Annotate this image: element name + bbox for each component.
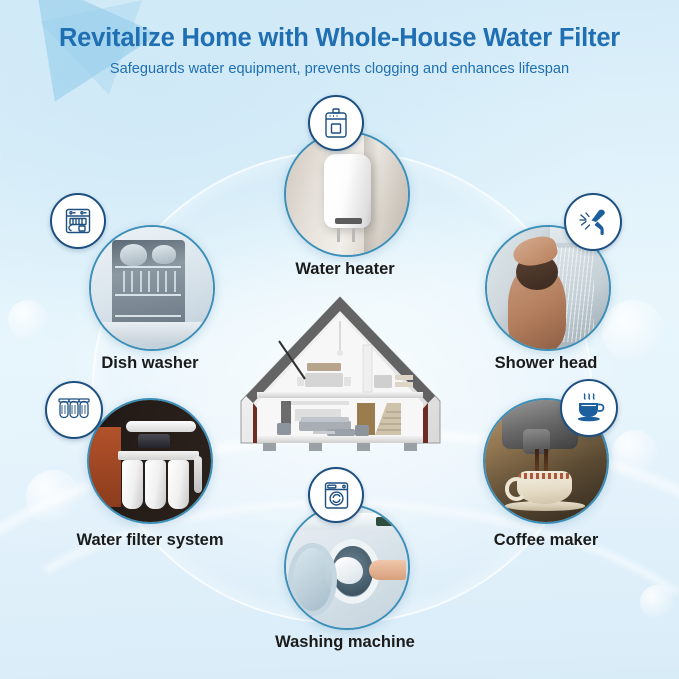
washing-machine-photo[interactable] xyxy=(284,504,410,630)
node-coffee-maker[interactable]: Coffee maker xyxy=(466,398,626,558)
dish-washer-photo[interactable] xyxy=(89,225,215,351)
washing-machine-icon[interactable] xyxy=(308,467,364,523)
water-heater-icon[interactable] xyxy=(308,95,364,151)
node-label-water-heater: Water heater xyxy=(295,260,394,279)
node-label-shower-head: Shower head xyxy=(495,354,598,373)
infographic-canvas: Revitalize Home with Whole-House Water F… xyxy=(0,0,679,679)
node-water-filter-system[interactable]: Water filter system xyxy=(70,398,230,558)
water-filter-system-photo[interactable] xyxy=(87,398,213,524)
page-subtitle: Safeguards water equipment, prevents clo… xyxy=(0,61,679,77)
bokeh-circle xyxy=(640,585,674,619)
node-label-water-filter-system: Water filter system xyxy=(76,531,223,550)
coffee-cup-icon[interactable] xyxy=(560,379,618,437)
filter-cartridges-icon[interactable] xyxy=(45,381,103,439)
water-heater-photo[interactable] xyxy=(284,131,410,257)
dishwasher-icon[interactable] xyxy=(50,193,106,249)
node-label-washing-machine: Washing machine xyxy=(275,633,415,652)
header: Revitalize Home with Whole-House Water F… xyxy=(0,24,679,77)
node-shower-head[interactable]: Shower head xyxy=(468,225,624,385)
node-dish-washer[interactable]: Dish washer xyxy=(72,225,228,385)
node-water-heater[interactable]: Water heater xyxy=(267,131,423,291)
node-label-dish-washer: Dish washer xyxy=(101,354,198,373)
page-title: Revitalize Home with Whole-House Water F… xyxy=(0,24,679,52)
bokeh-circle xyxy=(8,300,48,340)
node-label-coffee-maker: Coffee maker xyxy=(494,531,599,550)
node-washing-machine[interactable]: Washing machine xyxy=(267,504,423,664)
house-cutaway-illustration xyxy=(237,293,444,475)
shower-head-icon[interactable] xyxy=(564,193,622,251)
